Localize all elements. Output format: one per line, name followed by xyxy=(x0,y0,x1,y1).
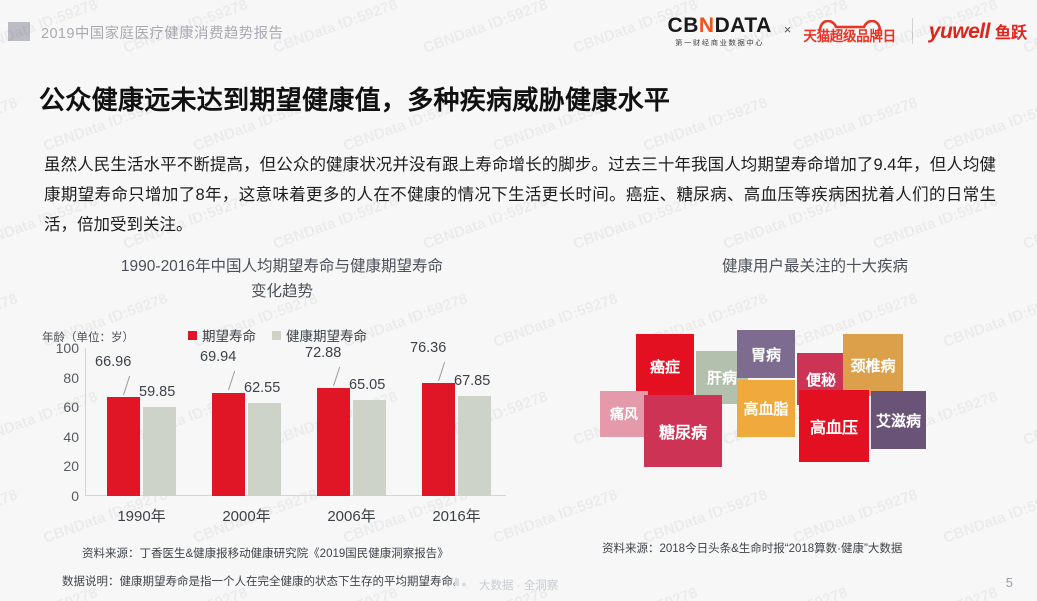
treemap-tile-label: 癌症 xyxy=(650,356,680,377)
cbndata-logo: CBNDATA 第一财经商业数据中心 xyxy=(668,15,772,46)
treemap-chart: 癌症肝病胃病高血脂便秘颈椎病痛风糖尿病高血压艾滋病 xyxy=(600,325,1030,500)
treemap-tile-label: 颈椎病 xyxy=(850,355,895,376)
tmall-logo: 天猫超级品牌日 xyxy=(803,18,895,44)
treemap-tile-胃病[interactable]: 胃病 xyxy=(737,330,795,378)
bar-value-label: 65.05 xyxy=(349,377,385,393)
right-chart-source: 资料来源：2018今日头条&生命时报“2018算数·健康”大数据 xyxy=(602,540,902,556)
bar-life-expectancy[interactable] xyxy=(317,388,350,496)
yuwell-en-wordmark: yuwell xyxy=(929,20,990,44)
bar-group: 2000年 xyxy=(212,393,281,497)
bar-healthy-life-expectancy[interactable] xyxy=(248,403,281,496)
bar-chart-title-line2: 变化趋势 xyxy=(56,279,508,304)
bar-value-label: 66.96 xyxy=(95,354,131,370)
cbndata-n-glyph: N xyxy=(699,14,715,37)
treemap-tile-label: 便秘 xyxy=(806,369,836,390)
legend-item-2[interactable]: 健康期望寿命 xyxy=(272,325,367,345)
watermark-text: CBNData ID:59278 xyxy=(721,584,850,601)
treemap-tile-癌症[interactable]: 癌症 xyxy=(636,334,694,399)
bar-value-label: 62.55 xyxy=(244,380,280,396)
watermark-text: CBNData ID:59278 xyxy=(1021,192,1037,253)
yuwell-logo: yuwell 鱼跃 xyxy=(929,19,1027,44)
cbndata-wordmark: CBNDATA xyxy=(668,15,772,36)
bar-chart-legend: 期望寿命健康期望寿命 xyxy=(188,325,367,345)
x-axis-tick-label: 2016年 xyxy=(422,505,491,526)
bar-value-label: 72.88 xyxy=(305,345,341,361)
legend-item-1[interactable]: 期望寿命 xyxy=(188,325,256,345)
tmall-wordmark: 天猫超级品牌日 xyxy=(803,30,895,44)
y-axis-tick: 0 xyxy=(71,488,79,504)
legend-swatch-icon xyxy=(272,331,281,340)
watermark-text: CBNData ID:59278 xyxy=(0,486,20,547)
y-axis-tick: 40 xyxy=(63,429,79,445)
legend-swatch-icon xyxy=(188,331,197,340)
watermark-text: CBNData ID:59278 xyxy=(941,94,1037,155)
leader-line xyxy=(333,367,340,386)
y-axis-line xyxy=(85,348,86,496)
bar-healthy-life-expectancy[interactable] xyxy=(143,407,176,496)
bar-chart-title-line1: 1990-2016年中国人均期望寿命与健康期望寿命 xyxy=(56,254,508,279)
treemap-title: 健康用户最关注的十大疾病 xyxy=(600,254,1030,276)
cbndata-subtitle: 第一财经商业数据中心 xyxy=(675,40,764,47)
bar-life-expectancy[interactable] xyxy=(107,397,140,496)
bar-healthy-life-expectancy[interactable] xyxy=(353,400,386,496)
treemap-tile-label: 艾滋病 xyxy=(876,410,921,431)
bar-value-label: 76.36 xyxy=(410,340,446,356)
y-axis-tick: 20 xyxy=(63,458,79,474)
bar-group: 2016年 xyxy=(422,383,491,496)
legend-label: 期望寿命 xyxy=(202,325,256,345)
treemap-tile-label: 糖尿病 xyxy=(659,419,707,443)
slide-header: 2019中国家庭医疗健康消费趋势报告 CBNDATA 第一财经商业数据中心 × … xyxy=(0,0,1037,58)
y-axis-tick: 60 xyxy=(63,399,79,415)
leader-line xyxy=(228,371,235,390)
treemap-tile-label: 高血压 xyxy=(810,414,858,438)
body-paragraph: 虽然人民生活水平不断提高，但公众的健康状况并没有跟上寿命增长的脚步。过去三十年我… xyxy=(44,150,996,240)
watermark-text: CBNData ID:59278 xyxy=(791,94,920,155)
logo-divider xyxy=(912,18,913,44)
bar-life-expectancy[interactable] xyxy=(422,383,455,496)
treemap-tile-糖尿病[interactable]: 糖尿病 xyxy=(644,395,722,467)
treemap-tile-高血压[interactable]: 高血压 xyxy=(799,390,869,462)
treemap-tile-颈椎病[interactable]: 颈椎病 xyxy=(843,334,903,396)
cross-icon: × xyxy=(784,22,792,37)
treemap-tile-label: 高血脂 xyxy=(743,398,788,419)
bar-value-label: 59.85 xyxy=(139,384,175,400)
treemap-tile-艾滋病[interactable]: 艾滋病 xyxy=(871,391,926,449)
report-title: 2019中国家庭医疗健康消费趋势报告 xyxy=(41,22,283,43)
bar-group: 1990年 xyxy=(107,397,176,496)
watermark-text: CBNData ID:59278 xyxy=(571,584,700,601)
y-axis-tick: 80 xyxy=(63,370,79,386)
bar-chart-title: 1990-2016年中国人均期望寿命与健康期望寿命 变化趋势 xyxy=(56,254,508,304)
legend-label: 健康期望寿命 xyxy=(286,325,367,345)
x-axis-tick-label: 2000年 xyxy=(212,505,281,526)
bar-value-label: 69.94 xyxy=(200,349,236,365)
treemap-tile-痛风[interactable]: 痛风 xyxy=(600,391,648,437)
watermark-text: CBNData ID:59278 xyxy=(0,94,20,155)
treemap-tile-label: 肝病 xyxy=(707,367,737,388)
treemap-tile-label: 胃病 xyxy=(751,344,781,365)
leader-line xyxy=(438,362,445,381)
watermark-text: CBNData ID:59278 xyxy=(871,584,1000,601)
watermark-text: CBNData ID:59278 xyxy=(0,290,20,351)
page-number: 5 xyxy=(1006,575,1013,590)
bar-group: 2006年 xyxy=(317,388,386,496)
yuwell-cn-wordmark: 鱼跃 xyxy=(995,19,1027,43)
x-axis-tick-label: 2006年 xyxy=(317,505,386,526)
x-axis-tick-label: 1990年 xyxy=(107,505,176,526)
treemap-tile-高血脂[interactable]: 高血脂 xyxy=(737,380,795,437)
brand-mark-icon xyxy=(455,577,468,588)
leader-line xyxy=(123,376,130,395)
logo-group: CBNDATA 第一财经商业数据中心 × 天猫超级品牌日 yuwell 鱼跃 xyxy=(668,12,1027,50)
brand-tagline: 大数据 · 全洞察 xyxy=(479,577,558,593)
bar-healthy-life-expectancy[interactable] xyxy=(458,396,491,496)
left-chart-note: 数据说明：健康期望寿命是指一个人在完全健康的状态下生存的平均期望寿命。 xyxy=(62,573,465,589)
header-square-icon xyxy=(8,22,30,41)
bar-chart-plot-area: 0204060801001990年66.9659.852000年69.9462.… xyxy=(86,348,506,496)
y-axis-tick: 100 xyxy=(56,340,79,356)
left-chart-source: 资料来源：丁香医生&健康报移动健康研究院《2019国民健康洞察报告》 xyxy=(82,545,449,561)
page-title: 公众健康远未达到期望健康值，多种疾病威胁健康水平 xyxy=(39,80,670,117)
treemap-tile-label: 痛风 xyxy=(610,404,638,424)
watermark-text: CBNData ID:59278 xyxy=(1021,584,1037,601)
bar-life-expectancy[interactable] xyxy=(212,393,245,497)
slide: CBNData ID:59278CBNData ID:59278CBNData … xyxy=(0,0,1037,601)
bar-value-label: 67.85 xyxy=(454,373,490,389)
